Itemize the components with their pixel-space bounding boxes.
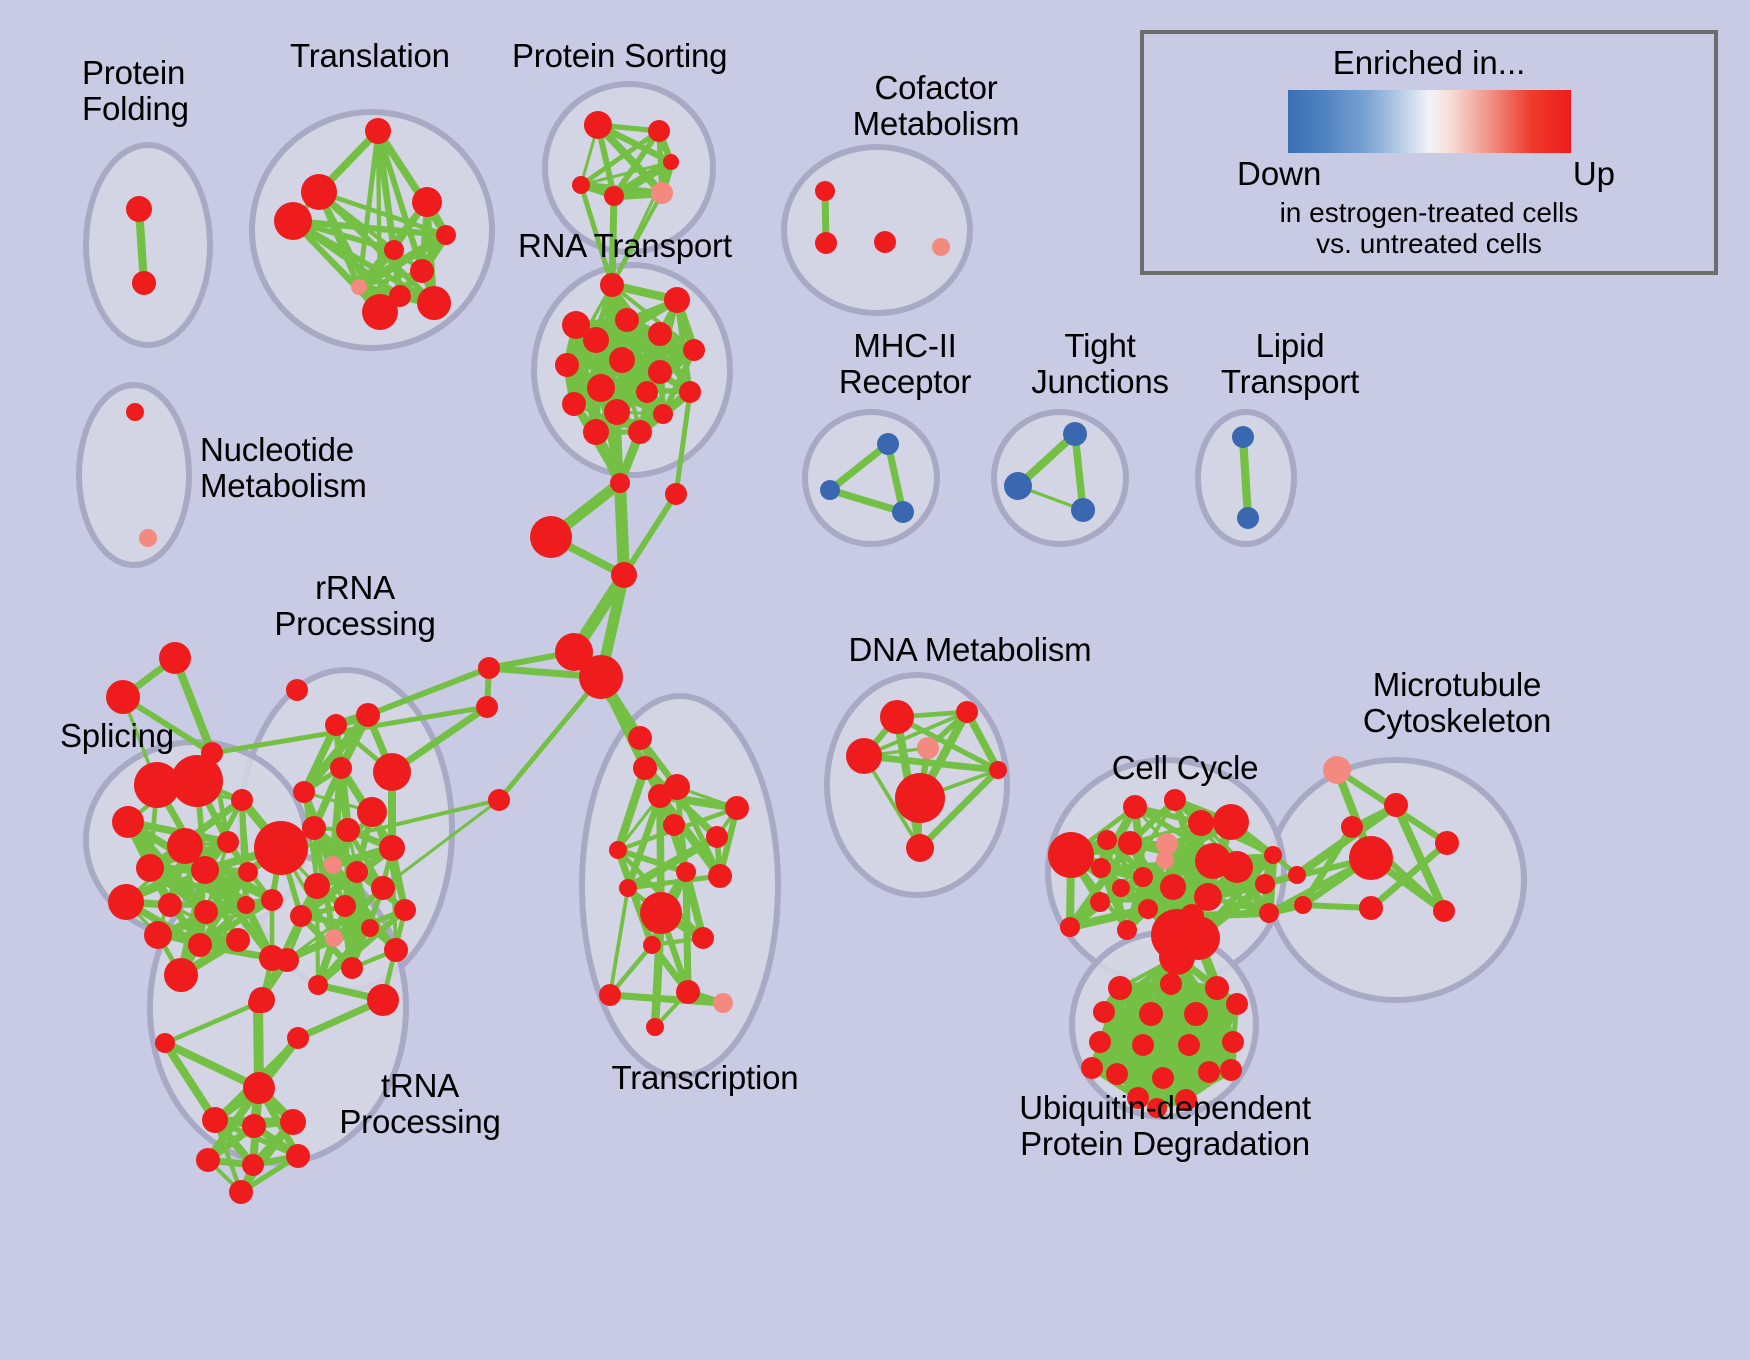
gene-set-node-cofactor-0[interactable] bbox=[815, 181, 835, 201]
gene-set-node-cofactor-2[interactable] bbox=[874, 231, 896, 253]
gene-set-node-rna-transport-9[interactable] bbox=[648, 360, 672, 384]
gene-set-node-cell-cycle-23[interactable] bbox=[1255, 874, 1275, 894]
gene-set-node-cell-cycle-11[interactable] bbox=[1091, 858, 1111, 878]
gene-set-node-rrna-24[interactable] bbox=[367, 984, 399, 1016]
gene-set-node-splicing-5[interactable] bbox=[112, 806, 144, 838]
gene-set-node-ubiquitin-4[interactable] bbox=[1093, 1001, 1115, 1023]
gene-set-node-cofactor-3[interactable] bbox=[932, 238, 950, 256]
gene-set-node-rrna-6[interactable] bbox=[357, 797, 387, 827]
gene-set-node-rna-transport-10[interactable] bbox=[587, 374, 615, 402]
cluster-ellipse-protein-sorting bbox=[545, 84, 713, 252]
gene-set-node-rna-transport-7[interactable] bbox=[555, 353, 579, 377]
gene-set-node-ubiquitin-2[interactable] bbox=[1160, 973, 1182, 995]
gene-set-node-ubiquitin-19[interactable] bbox=[1147, 1098, 1167, 1118]
gene-set-node-rrna-19[interactable] bbox=[325, 929, 343, 947]
gene-set-node-dna-metabolism-2[interactable] bbox=[846, 738, 882, 774]
gene-set-node-translation-8[interactable] bbox=[351, 279, 367, 295]
gene-set-node-ubiquitin-0[interactable] bbox=[1159, 939, 1195, 975]
gene-set-node-transcription-13[interactable] bbox=[643, 936, 661, 954]
gene-set-node-transcription-7[interactable] bbox=[725, 796, 749, 820]
cluster-ellipse-cofactor bbox=[784, 147, 970, 313]
gene-set-node-rrna-13[interactable] bbox=[304, 873, 330, 899]
gene-set-node-cell-cycle-14[interactable] bbox=[1160, 874, 1186, 900]
gene-set-node-translation-3[interactable] bbox=[412, 187, 442, 217]
gene-set-node-trna-5[interactable] bbox=[242, 1114, 266, 1138]
gene-set-node-translation-6[interactable] bbox=[384, 240, 404, 260]
gene-set-node-tight-junctions-0[interactable] bbox=[1063, 422, 1087, 446]
gene-set-node-microtubule-2[interactable] bbox=[1341, 816, 1363, 838]
gene-set-node-rna-transport-11[interactable] bbox=[636, 381, 658, 403]
gene-set-node-ubiquitin-17[interactable] bbox=[1220, 1059, 1242, 1081]
gene-set-node-rrna-11[interactable] bbox=[379, 835, 405, 861]
gene-set-node-protein-folding-1[interactable] bbox=[132, 271, 156, 295]
gene-set-node-splicing-11[interactable] bbox=[238, 862, 258, 882]
network-edge bbox=[624, 494, 676, 575]
gene-set-node-translation-4[interactable] bbox=[274, 202, 312, 240]
gene-set-node-cell-cycle-4[interactable] bbox=[1188, 810, 1214, 836]
gene-set-node-cell-cycle-2[interactable] bbox=[1164, 789, 1186, 811]
gene-set-node-cell-cycle-13[interactable] bbox=[1112, 879, 1130, 897]
gene-set-node-dna-metabolism-1[interactable] bbox=[956, 701, 978, 723]
gene-set-node-bridge-1[interactable] bbox=[665, 483, 687, 505]
network-edge bbox=[612, 196, 614, 285]
gene-set-node-rna-transport-4[interactable] bbox=[648, 322, 672, 346]
gene-set-node-dna-metabolism-5[interactable] bbox=[906, 834, 934, 862]
gene-set-node-microtubule-0[interactable] bbox=[1323, 756, 1351, 784]
legend-title: Enriched in... bbox=[1144, 44, 1714, 82]
gene-set-node-rrna-14[interactable] bbox=[371, 876, 395, 900]
enrichment-map-figure: Protein FoldingTranslationProtein Sortin… bbox=[0, 0, 1750, 1360]
gene-set-node-protein-sorting-5[interactable] bbox=[663, 154, 679, 170]
gene-set-node-cell-cycle-17[interactable] bbox=[1138, 899, 1158, 919]
gene-set-node-transcription-4[interactable] bbox=[648, 784, 672, 808]
gene-set-node-bridge-5[interactable] bbox=[579, 655, 623, 699]
network-edge bbox=[1243, 437, 1248, 518]
gene-set-node-rna-transport-6[interactable] bbox=[683, 339, 705, 361]
gene-set-node-ubiquitin-14[interactable] bbox=[1198, 1061, 1220, 1083]
gene-set-node-transcription-9[interactable] bbox=[676, 862, 696, 882]
gene-set-node-splicing-20[interactable] bbox=[164, 958, 198, 992]
gene-set-node-trna-6[interactable] bbox=[280, 1109, 306, 1135]
gene-set-node-rna-transport-16[interactable] bbox=[583, 419, 609, 445]
gene-set-node-translation-10[interactable] bbox=[417, 286, 451, 320]
gene-set-node-rrna-12[interactable] bbox=[346, 861, 368, 883]
gene-set-node-rna-transport-5[interactable] bbox=[583, 327, 609, 353]
gene-set-node-splicing-18[interactable] bbox=[226, 928, 250, 952]
gene-set-node-rna-transport-17[interactable] bbox=[628, 420, 652, 444]
gene-set-node-splicing-8[interactable] bbox=[136, 854, 164, 882]
gene-set-node-cell-cycle-10[interactable] bbox=[1097, 830, 1117, 850]
gene-set-node-rna-transport-3[interactable] bbox=[615, 308, 639, 332]
network-edge bbox=[499, 677, 601, 800]
gene-set-node-splicing-6[interactable] bbox=[231, 789, 253, 811]
gene-set-node-cofactor-1[interactable] bbox=[815, 232, 837, 254]
gene-set-node-splicing-15[interactable] bbox=[237, 896, 255, 914]
gene-set-node-rrna-9[interactable] bbox=[254, 821, 308, 875]
gene-set-node-protein-sorting-3[interactable] bbox=[604, 186, 624, 206]
legend-up-label: Up bbox=[1573, 155, 1615, 193]
gene-set-node-microtubule-4[interactable] bbox=[1435, 831, 1459, 855]
gene-set-node-rrna-15[interactable] bbox=[334, 895, 356, 917]
gene-set-node-transcription-10[interactable] bbox=[708, 864, 732, 888]
gene-set-node-rrna-21[interactable] bbox=[275, 948, 299, 972]
gene-set-node-ubiquitin-12[interactable] bbox=[1106, 1063, 1128, 1085]
gene-set-node-rrna-17[interactable] bbox=[394, 899, 416, 921]
cluster-ellipse-mhc-ii bbox=[805, 412, 937, 544]
gene-set-node-ubiquitin-9[interactable] bbox=[1132, 1034, 1154, 1056]
gene-set-node-transcription-12[interactable] bbox=[692, 927, 714, 949]
gene-set-node-ubiquitin-6[interactable] bbox=[1184, 1002, 1208, 1026]
gene-set-node-splicing-19[interactable] bbox=[261, 889, 283, 911]
gene-set-node-ubiquitin-10[interactable] bbox=[1178, 1034, 1200, 1056]
gene-set-node-ubiquitin-16[interactable] bbox=[1175, 1089, 1197, 1111]
gene-set-node-rna-transport-8[interactable] bbox=[609, 347, 635, 373]
gene-set-node-cell-cycle-7[interactable] bbox=[1156, 851, 1174, 869]
gene-set-node-translation-9[interactable] bbox=[389, 285, 411, 307]
gene-set-node-rrna-1[interactable] bbox=[356, 703, 380, 727]
gene-set-node-splicing-16[interactable] bbox=[144, 921, 172, 949]
gene-set-node-translation-7[interactable] bbox=[410, 259, 434, 283]
network-edge bbox=[686, 872, 688, 992]
gene-set-node-bridge-7[interactable] bbox=[476, 696, 498, 718]
gene-set-node-trna-10[interactable] bbox=[229, 1180, 253, 1204]
gene-set-node-mhc-ii-1[interactable] bbox=[820, 480, 840, 500]
gene-set-node-ubiquitin-3[interactable] bbox=[1205, 976, 1229, 1000]
gene-set-node-bridge-3[interactable] bbox=[611, 562, 637, 588]
gene-set-node-rrna-0[interactable] bbox=[286, 679, 308, 701]
gene-set-node-bridge-0[interactable] bbox=[610, 473, 630, 493]
gene-set-node-cell-cycle-25[interactable] bbox=[1264, 846, 1282, 864]
gene-set-node-transcription-15[interactable] bbox=[676, 980, 700, 1004]
gene-set-node-rna-transport-13[interactable] bbox=[562, 392, 586, 416]
gene-set-node-tight-junctions-2[interactable] bbox=[1071, 498, 1095, 522]
gene-set-node-rrna-16[interactable] bbox=[290, 905, 312, 927]
gene-set-node-rrna-10[interactable] bbox=[324, 856, 342, 874]
gene-set-node-rrna-7[interactable] bbox=[302, 816, 326, 840]
gene-set-node-mhc-ii-2[interactable] bbox=[892, 501, 914, 523]
gene-set-node-transcription-14[interactable] bbox=[599, 984, 621, 1006]
gene-set-node-transcription-11[interactable] bbox=[619, 879, 637, 897]
gene-set-node-rrna-5[interactable] bbox=[373, 753, 411, 791]
gene-set-node-transcription-1[interactable] bbox=[633, 756, 657, 780]
gene-set-node-ubiquitin-11[interactable] bbox=[1222, 1031, 1244, 1053]
gene-set-node-rrna-2[interactable] bbox=[325, 714, 347, 736]
gene-set-node-lipid-transport-0[interactable] bbox=[1232, 426, 1254, 448]
gene-set-node-protein-sorting-2[interactable] bbox=[572, 176, 590, 194]
gene-set-node-trna-0[interactable] bbox=[248, 993, 268, 1013]
gene-set-node-ubiquitin-13[interactable] bbox=[1152, 1067, 1174, 1089]
gene-set-node-protein-sorting-0[interactable] bbox=[584, 111, 612, 139]
gene-set-node-splicing-12[interactable] bbox=[108, 884, 144, 920]
gene-set-node-rna-transport-0[interactable] bbox=[600, 273, 624, 297]
gene-set-node-cell-cycle-9[interactable] bbox=[1221, 851, 1253, 883]
gene-set-node-bridge-6[interactable] bbox=[478, 657, 500, 679]
gene-set-node-ubiquitin-18[interactable] bbox=[1081, 1057, 1103, 1079]
gene-set-node-microtubule-3[interactable] bbox=[1349, 836, 1393, 880]
gene-set-node-rrna-3[interactable] bbox=[330, 757, 352, 779]
gene-set-node-transcription-6[interactable] bbox=[609, 841, 627, 859]
legend-subtitle-line2: vs. untreated cells bbox=[1144, 228, 1714, 259]
gene-set-node-trna-8[interactable] bbox=[242, 1154, 264, 1176]
gene-set-node-rrna-23[interactable] bbox=[308, 975, 328, 995]
gene-set-node-ubiquitin-7[interactable] bbox=[1226, 993, 1248, 1015]
gene-set-node-microtubule-1[interactable] bbox=[1384, 793, 1408, 817]
gene-set-node-splicing-17[interactable] bbox=[188, 933, 212, 957]
gene-set-node-protein-sorting-4[interactable] bbox=[651, 182, 673, 204]
gene-set-node-trna-1[interactable] bbox=[287, 1027, 309, 1049]
gene-set-node-rna-transport-14[interactable] bbox=[604, 399, 630, 425]
gene-set-node-lipid-transport-1[interactable] bbox=[1237, 507, 1259, 529]
gene-set-node-trna-2[interactable] bbox=[243, 1072, 275, 1104]
gene-set-node-translation-2[interactable] bbox=[301, 174, 337, 210]
gene-set-node-transcription-5[interactable] bbox=[706, 826, 728, 848]
gene-set-node-ubiquitin-15[interactable] bbox=[1127, 1087, 1149, 1109]
gene-set-node-rrna-22[interactable] bbox=[341, 957, 363, 979]
cluster-ellipse-protein-folding bbox=[86, 145, 210, 345]
gene-set-node-cell-cycle-12[interactable] bbox=[1133, 867, 1153, 887]
gene-set-node-rrna-18[interactable] bbox=[361, 919, 379, 937]
gene-set-node-rna-transport-12[interactable] bbox=[679, 381, 701, 403]
gene-set-node-nucleotide-1[interactable] bbox=[139, 529, 157, 547]
gene-set-node-translation-5[interactable] bbox=[436, 225, 456, 245]
gene-set-node-microtubule-6[interactable] bbox=[1433, 900, 1455, 922]
gene-set-node-trna-7[interactable] bbox=[196, 1148, 220, 1172]
gene-set-node-splicing-4[interactable] bbox=[171, 755, 223, 807]
gene-set-node-dna-metabolism-6[interactable] bbox=[989, 761, 1007, 779]
gene-set-node-cell-cycle-5[interactable] bbox=[1118, 831, 1142, 855]
gene-set-node-cell-cycle-20[interactable] bbox=[1117, 920, 1137, 940]
gene-set-node-cell-cycle-24[interactable] bbox=[1259, 903, 1279, 923]
gene-set-node-splicing-13[interactable] bbox=[158, 893, 182, 917]
gene-set-node-translation-0[interactable] bbox=[365, 118, 391, 144]
gene-set-node-transcription-3[interactable] bbox=[663, 814, 685, 836]
gene-set-node-microtubule-7[interactable] bbox=[1288, 866, 1306, 884]
gene-set-node-microtubule-8[interactable] bbox=[1294, 896, 1312, 914]
gene-set-node-ubiquitin-1[interactable] bbox=[1108, 976, 1132, 1000]
gene-set-node-cell-cycle-1[interactable] bbox=[1123, 795, 1147, 819]
gene-set-node-dna-metabolism-3[interactable] bbox=[917, 737, 939, 759]
gene-set-node-rrna-20[interactable] bbox=[384, 938, 408, 962]
gene-set-node-rrna-4[interactable] bbox=[293, 781, 315, 803]
gene-set-node-splicing-14[interactable] bbox=[194, 900, 218, 924]
network-edge bbox=[620, 483, 624, 575]
gene-set-node-transcription-8[interactable] bbox=[640, 892, 682, 934]
legend-subtitle-line1: in estrogen-treated cells bbox=[1144, 197, 1714, 228]
gene-set-node-rna-transport-1[interactable] bbox=[664, 287, 690, 313]
gene-set-node-cell-cycle-0[interactable] bbox=[1048, 832, 1094, 878]
gene-set-node-cell-cycle-3[interactable] bbox=[1213, 804, 1249, 840]
gene-set-node-cell-cycle-16[interactable] bbox=[1090, 892, 1110, 912]
gene-set-node-ubiquitin-5[interactable] bbox=[1139, 1002, 1163, 1026]
gene-set-node-dna-metabolism-0[interactable] bbox=[880, 700, 914, 734]
gene-set-node-ubiquitin-8[interactable] bbox=[1089, 1031, 1111, 1053]
gene-set-node-splicing-10[interactable] bbox=[191, 856, 219, 884]
gene-set-node-bridge-8[interactable] bbox=[488, 789, 510, 811]
gene-set-node-splicing-0[interactable] bbox=[159, 642, 191, 674]
gene-set-node-protein-sorting-1[interactable] bbox=[648, 120, 670, 142]
gene-set-node-microtubule-5[interactable] bbox=[1359, 896, 1383, 920]
gene-set-node-transcription-16[interactable] bbox=[646, 1018, 664, 1036]
legend-down-label: Down bbox=[1237, 155, 1321, 193]
gene-set-node-bridge-2[interactable] bbox=[530, 516, 572, 558]
gene-set-node-transcription-17[interactable] bbox=[713, 993, 733, 1013]
gene-set-node-tight-junctions-1[interactable] bbox=[1004, 472, 1032, 500]
gene-set-node-trna-3[interactable] bbox=[155, 1033, 175, 1053]
gene-set-node-trna-4[interactable] bbox=[202, 1107, 228, 1133]
gene-set-node-nucleotide-0[interactable] bbox=[126, 403, 144, 421]
gene-set-node-splicing-1[interactable] bbox=[106, 680, 140, 714]
gene-set-node-rrna-8[interactable] bbox=[336, 818, 360, 842]
gene-set-node-cell-cycle-19[interactable] bbox=[1060, 917, 1080, 937]
gene-set-node-trna-9[interactable] bbox=[286, 1144, 310, 1168]
gene-set-node-protein-folding-0[interactable] bbox=[126, 196, 152, 222]
gene-set-node-splicing-9[interactable] bbox=[217, 831, 239, 853]
gene-set-node-rna-transport-15[interactable] bbox=[653, 404, 673, 424]
legend-color-gradient-bar bbox=[1288, 90, 1571, 153]
gene-set-node-dna-metabolism-4[interactable] bbox=[895, 773, 945, 823]
gene-set-node-transcription-0[interactable] bbox=[628, 726, 652, 750]
gene-set-node-mhc-ii-0[interactable] bbox=[877, 433, 899, 455]
legend-endpoint-labels: Down Up bbox=[1219, 155, 1639, 197]
legend-box: Enriched in... Down Up in estrogen-treat… bbox=[1140, 30, 1718, 275]
